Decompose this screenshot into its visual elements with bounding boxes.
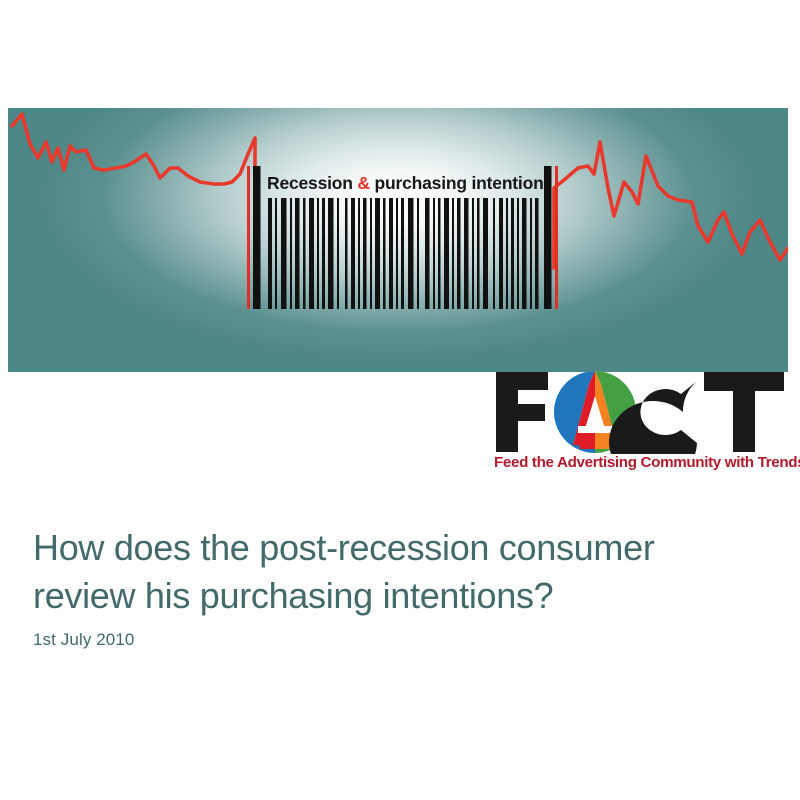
fact-logo: Feed the Advertising Community with Tren…	[492, 370, 792, 480]
fact-logo-mark	[492, 370, 788, 454]
letter-t-icon	[704, 372, 784, 452]
barcode-label: Recession & purchasing intention	[267, 170, 547, 196]
barcode-label-ampersand: &	[357, 173, 369, 193]
page-title: How does the post-recession consumer rev…	[33, 524, 753, 620]
fact-logo-tagline: Feed the Advertising Community with Tren…	[494, 454, 790, 471]
page-title-line-1: How does the post-recession consumer	[33, 524, 753, 572]
barcode-graphic: Recession & purchasing intention	[245, 166, 563, 309]
barcode-label-suffix: purchasing intention	[370, 173, 544, 193]
letter-f-icon	[496, 372, 548, 452]
recession-banner: Recession & purchasing intention	[8, 108, 788, 372]
page-date: 1st July 2010	[33, 630, 134, 650]
trend-line-left	[12, 114, 255, 268]
fact-wordmark-icon	[492, 370, 788, 454]
trend-line-right	[554, 142, 788, 268]
barcode-label-prefix: Recession	[267, 173, 357, 193]
page-title-line-2: review his purchasing intentions?	[33, 572, 753, 620]
